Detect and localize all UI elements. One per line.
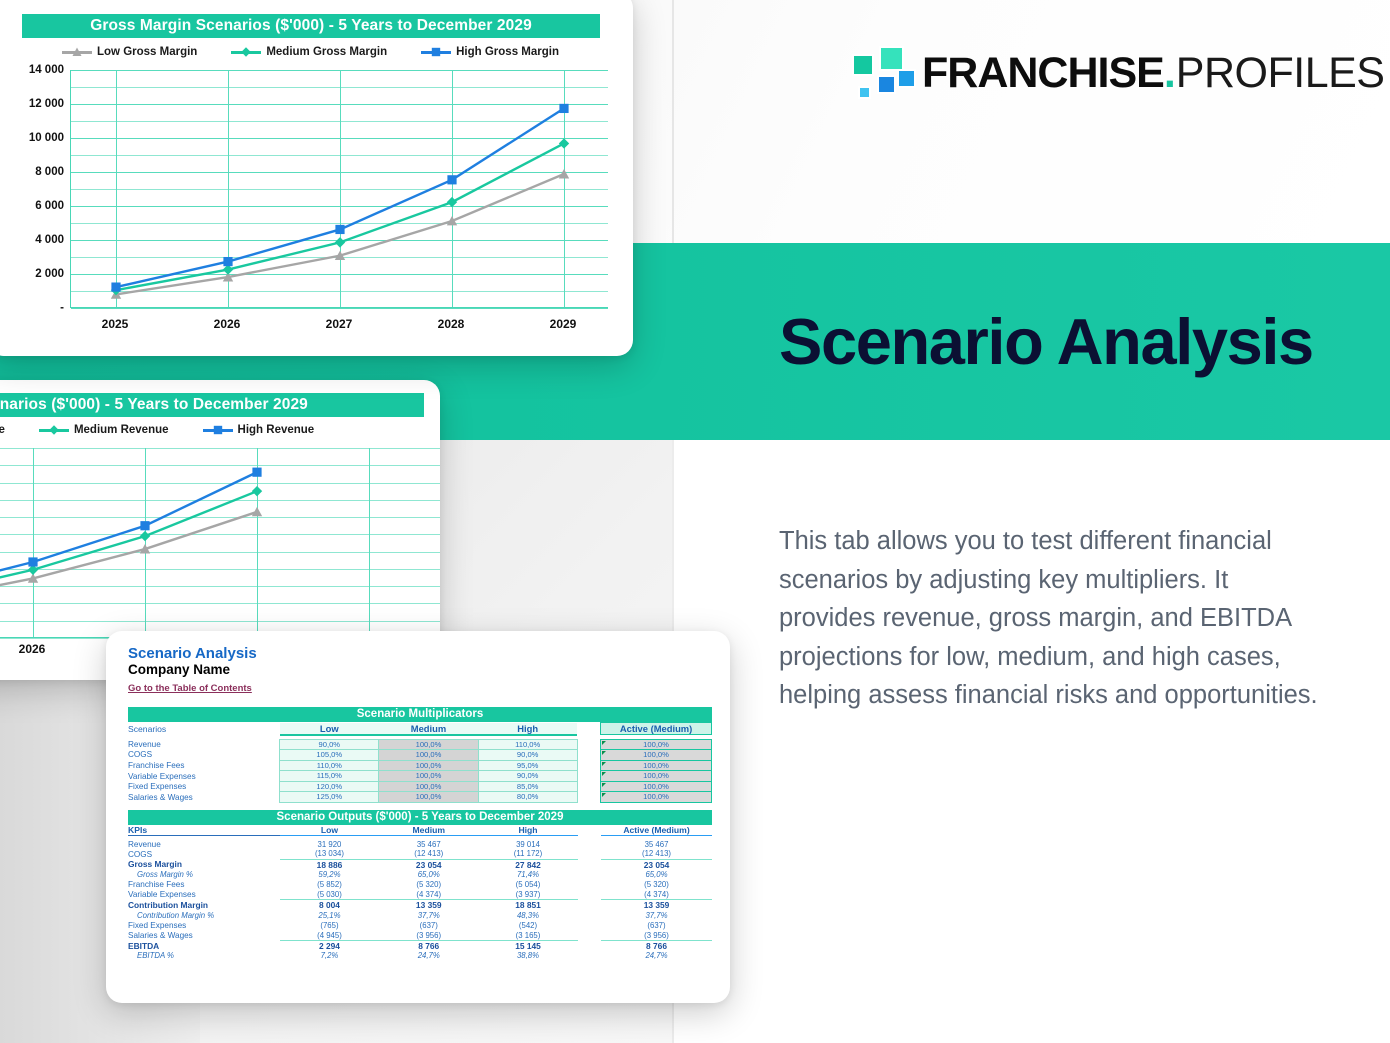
- cell-low[interactable]: (13 034): [280, 849, 379, 859]
- gross-margin-chart-plot: [70, 70, 608, 308]
- cell-active[interactable]: 8 766: [601, 940, 712, 951]
- outputs-column-header: High: [478, 825, 577, 836]
- cell-low[interactable]: 115,0%: [280, 771, 379, 782]
- spacer-cell: [578, 910, 601, 920]
- cell-active[interactable]: 65,0%: [601, 870, 712, 880]
- cell-medium[interactable]: 100,0%: [379, 760, 478, 771]
- legend-swatch-low: [62, 51, 92, 54]
- outputs-band: Scenario Outputs ($'000) - 5 Years to De…: [128, 810, 712, 825]
- row-label: Contribution Margin %: [128, 910, 280, 920]
- spacer-cell: [578, 890, 601, 900]
- cell-active[interactable]: (5 320): [601, 880, 712, 890]
- cell-active[interactable]: (4 374): [601, 890, 712, 900]
- cell-active[interactable]: 100,0%: [601, 760, 712, 771]
- data-point: [252, 507, 262, 516]
- spacer-cell: [578, 859, 601, 870]
- spacer-cell: [578, 920, 601, 930]
- row-label: Gross Margin: [128, 859, 280, 870]
- series-line-0: [116, 174, 564, 294]
- cell-medium[interactable]: 13 359: [379, 900, 478, 911]
- row-label: EBITDA: [128, 940, 280, 951]
- scenario-outputs-table[interactable]: KPIsLowMediumHighActive (Medium)Revenue3…: [128, 825, 712, 961]
- x-axis-tick-label: 2027: [326, 317, 353, 331]
- revenue-chart-legend: Low Revenue Medium Revenue High Revenue: [0, 421, 440, 439]
- cell-medium[interactable]: (3 956): [379, 930, 478, 940]
- y-axis-tick-label: -: [60, 302, 64, 314]
- row-label: Salaries & Wages: [128, 792, 280, 803]
- outputs-active-column-header: Active (Medium): [601, 825, 712, 836]
- cell-high[interactable]: 18 851: [478, 900, 577, 911]
- cell-low[interactable]: 7,2%: [280, 951, 379, 961]
- spacer-cell: [578, 951, 601, 961]
- row-label: Fixed Expenses: [128, 781, 280, 792]
- y-axis-tick-label: 10 000: [29, 132, 64, 144]
- data-point: [252, 468, 261, 477]
- cell-medium[interactable]: 100,0%: [379, 792, 478, 803]
- legend-label-high-gross-margin: High Gross Margin: [456, 46, 559, 58]
- x-axis-tick-label: 2028: [438, 317, 465, 331]
- cell-high[interactable]: (3 165): [478, 930, 577, 940]
- cell-medium[interactable]: 35 467: [379, 839, 478, 849]
- cell-active[interactable]: 100,0%: [601, 792, 712, 803]
- table-row[interactable]: Fixed Expenses120,0%100,0%85,0%100,0%: [128, 781, 712, 792]
- cell-high[interactable]: (542): [478, 920, 577, 930]
- page-title: Scenario Analysis: [779, 303, 1313, 381]
- multiplicators-column-header: High: [478, 723, 577, 735]
- row-label: Contribution Margin: [128, 900, 280, 911]
- cell-medium[interactable]: 100,0%: [379, 781, 478, 792]
- data-point: [559, 104, 568, 113]
- legend-item-high-gross-margin: High Gross Margin: [421, 46, 559, 58]
- table-row[interactable]: Contribution Margin8 00413 35918 85113 3…: [128, 900, 712, 911]
- cell-low[interactable]: (5 852): [280, 880, 379, 890]
- row-label: Variable Expenses: [128, 771, 280, 782]
- sheet-company-name: Company Name: [128, 662, 712, 678]
- cell-medium[interactable]: 8 766: [379, 940, 478, 951]
- cell-medium[interactable]: 100,0%: [379, 750, 478, 761]
- cell-medium[interactable]: (637): [379, 920, 478, 930]
- cell-high[interactable]: 85,0%: [478, 781, 577, 792]
- cell-low[interactable]: 25,1%: [280, 910, 379, 920]
- legend-swatch-high: [203, 429, 233, 432]
- data-point: [559, 138, 569, 148]
- cell-active[interactable]: 100,0%: [601, 750, 712, 761]
- row-label: COGS: [128, 750, 280, 761]
- page-description: This tab allows you to test different fi…: [779, 522, 1331, 715]
- cell-medium[interactable]: 100,0%: [379, 771, 478, 782]
- cell-medium[interactable]: 100,0%: [379, 739, 478, 750]
- spacer-cell: [578, 940, 601, 951]
- cell-active[interactable]: 23 054: [601, 859, 712, 870]
- gross-margin-chart-legend: Low Gross Margin Medium Gross Margin Hig…: [0, 43, 633, 61]
- spacer-cell: [578, 870, 601, 880]
- cell-low[interactable]: 105,0%: [280, 750, 379, 761]
- table-row[interactable]: Revenue31 92035 46739 01435 467: [128, 839, 712, 849]
- row-label: Salaries & Wages: [128, 930, 280, 940]
- multiplicators-active-column-header: Active (Medium): [601, 723, 712, 735]
- cell-medium[interactable]: 23 054: [379, 859, 478, 870]
- series-line-0: [0, 512, 257, 621]
- legend-label-low-gross-margin: Low Gross Margin: [97, 46, 197, 58]
- table-row[interactable]: Revenue90,0%100,0%110,0%100,0%: [128, 739, 712, 750]
- cell-active[interactable]: (12 413): [601, 849, 712, 859]
- data-point: [28, 557, 37, 566]
- cell-low[interactable]: 31 920: [280, 839, 379, 849]
- cell-medium[interactable]: 37,7%: [379, 910, 478, 920]
- legend-swatch-medium: [39, 429, 69, 432]
- cell-low[interactable]: 18 886: [280, 859, 379, 870]
- series-line-1: [116, 143, 564, 290]
- multiplicators-row-header: Scenarios: [128, 723, 280, 735]
- cell-high[interactable]: 90,0%: [478, 771, 577, 782]
- row-label: Variable Expenses: [128, 890, 280, 900]
- table-row[interactable]: Salaries & Wages125,0%100,0%80,0%100,0%: [128, 792, 712, 803]
- logo-text-bold: FRANCHISE: [922, 49, 1164, 98]
- spacer-cell: [578, 880, 601, 890]
- legend-item-low-gross-margin: Low Gross Margin: [62, 46, 197, 58]
- table-row[interactable]: EBITDA %7,2%24,7%38,8%24,7%: [128, 951, 712, 961]
- gross-margin-chart-title: Gross Margin Scenarios ($'000) - 5 Years…: [22, 14, 600, 38]
- legend-item-high-revenue: High Revenue: [203, 424, 315, 436]
- outputs-column-header: Low: [280, 825, 379, 836]
- cell-low[interactable]: (5 030): [280, 890, 379, 900]
- y-axis-tick-label: 2 000: [35, 268, 64, 280]
- series-line-1: [0, 491, 257, 618]
- row-label: Gross Margin %: [128, 870, 280, 880]
- data-point: [140, 521, 149, 530]
- cell-medium[interactable]: 65,0%: [379, 870, 478, 880]
- cell-low[interactable]: 90,0%: [280, 739, 379, 750]
- scenario-analysis-sheet-card: Scenario Analysis Company Name Go to the…: [106, 631, 730, 1003]
- cell-active[interactable]: 24,7%: [601, 951, 712, 961]
- cell-high[interactable]: 39 014: [478, 839, 577, 849]
- spacer-cell: [577, 750, 600, 761]
- logo-text-dot: .: [1164, 49, 1176, 98]
- cell-high[interactable]: 90,0%: [478, 750, 577, 761]
- legend-label-medium-revenue: Medium Revenue: [74, 424, 169, 436]
- series-line-2: [116, 108, 564, 287]
- row-label: Revenue: [128, 839, 280, 849]
- row-label: EBITDA %: [128, 951, 280, 961]
- cell-active[interactable]: 13 359: [601, 900, 712, 911]
- cell-low[interactable]: 110,0%: [280, 760, 379, 771]
- chart-series-layer: [0, 448, 440, 638]
- data-point: [447, 175, 456, 184]
- cell-high[interactable]: 80,0%: [478, 792, 577, 803]
- spacer-cell: [578, 930, 601, 940]
- outputs-header-row: KPIsLowMediumHighActive (Medium): [128, 825, 712, 836]
- table-row[interactable]: Gross Margin18 88623 05427 84223 054: [128, 859, 712, 870]
- spacer-cell: [578, 900, 601, 911]
- cell-active[interactable]: (3 956): [601, 930, 712, 940]
- cell-high[interactable]: 48,3%: [478, 910, 577, 920]
- cell-low[interactable]: (765): [280, 920, 379, 930]
- gridline-horizontal: [71, 308, 608, 309]
- data-point: [140, 531, 150, 541]
- row-label: Fixed Expenses: [128, 920, 280, 930]
- cell-active[interactable]: 100,0%: [601, 781, 712, 792]
- cell-high[interactable]: (3 937): [478, 890, 577, 900]
- spacer-cell: [577, 723, 600, 735]
- cell-medium[interactable]: 24,7%: [379, 951, 478, 961]
- data-point: [447, 197, 457, 207]
- multiplicators-header-row: ScenariosLowMediumHighActive (Medium): [128, 723, 712, 735]
- multiplicators-column-header: Medium: [379, 723, 478, 735]
- logo-mark-icon: [852, 46, 906, 100]
- x-axis-tick-label: 2026: [214, 317, 241, 331]
- cell-active[interactable]: 100,0%: [601, 739, 712, 750]
- outputs-row-header: KPIs: [128, 825, 280, 836]
- spacer-cell: [578, 839, 601, 849]
- legend-swatch-high: [421, 51, 451, 54]
- spacer-cell: [578, 825, 601, 836]
- x-axis-tick-label: 2026: [19, 642, 46, 656]
- cell-high[interactable]: 110,0%: [478, 739, 577, 750]
- data-point: [335, 225, 344, 234]
- table-row[interactable]: COGS(13 034)(12 413)(11 172)(12 413): [128, 849, 712, 859]
- cell-medium[interactable]: (4 374): [379, 890, 478, 900]
- cell-active[interactable]: (637): [601, 920, 712, 930]
- table-row[interactable]: Gross Margin %59,2%65,0%71,4%65,0%: [128, 870, 712, 880]
- y-axis-tick-label: 8 000: [35, 166, 64, 178]
- y-axis-tick-label: 12 000: [29, 98, 64, 110]
- cell-high[interactable]: 38,8%: [478, 951, 577, 961]
- sheet-title: Scenario Analysis: [128, 645, 712, 662]
- cell-low[interactable]: 125,0%: [280, 792, 379, 803]
- spacer-cell: [577, 792, 600, 803]
- revenue-chart-plot: [0, 448, 440, 638]
- gross-margin-chart-yaxis: -2 0004 0006 0008 00010 00012 00014 000: [0, 70, 64, 308]
- data-point: [223, 257, 232, 266]
- chart-series-layer: [71, 70, 609, 308]
- y-axis-tick-label: 4 000: [35, 234, 64, 246]
- cell-medium[interactable]: (5 320): [379, 880, 478, 890]
- background-divider-top: [672, 0, 674, 243]
- y-axis-tick-label: 14 000: [29, 64, 64, 76]
- legend-item-low-revenue: Low Revenue: [0, 424, 5, 436]
- scenario-multiplicators-table[interactable]: ScenariosLowMediumHighActive (Medium)Rev…: [128, 722, 712, 803]
- cell-low[interactable]: 120,0%: [280, 781, 379, 792]
- table-row[interactable]: Variable Expenses(5 030)(4 374)(3 937)(4…: [128, 890, 712, 900]
- table-row[interactable]: Salaries & Wages(4 945)(3 956)(3 165)(3 …: [128, 930, 712, 940]
- cell-low[interactable]: 59,2%: [280, 870, 379, 880]
- legend-label-low-revenue: Low Revenue: [0, 424, 5, 436]
- data-point: [111, 282, 120, 291]
- brand-logo: FRANCHISE . PROFILES: [852, 46, 1384, 100]
- logo-text-light: PROFILES: [1176, 49, 1385, 98]
- table-row[interactable]: Contribution Margin %25,1%37,7%48,3%37,7…: [128, 910, 712, 920]
- spacer-cell: [577, 739, 600, 750]
- revenue-chart-title: Revenue Scenarios ($'000) - 5 Years to D…: [0, 393, 424, 417]
- cell-active[interactable]: 35 467: [601, 839, 712, 849]
- table-row[interactable]: COGS105,0%100,0%90,0%100,0%: [128, 750, 712, 761]
- spacer-cell: [578, 849, 601, 859]
- cell-low[interactable]: (4 945): [280, 930, 379, 940]
- cell-high[interactable]: (5 054): [478, 880, 577, 890]
- y-axis-tick-label: 6 000: [35, 200, 64, 212]
- data-point: [559, 169, 569, 178]
- cell-high[interactable]: 95,0%: [478, 760, 577, 771]
- cell-high[interactable]: 27 842: [478, 859, 577, 870]
- gross-margin-chart-card: Gross Margin Scenarios ($'000) - 5 Years…: [0, 0, 633, 356]
- table-row[interactable]: Franchise Fees(5 852)(5 320)(5 054)(5 32…: [128, 880, 712, 890]
- legend-item-medium-revenue: Medium Revenue: [39, 424, 169, 436]
- row-label: COGS: [128, 849, 280, 859]
- table-row[interactable]: Franchise Fees110,0%100,0%95,0%100,0%: [128, 760, 712, 771]
- cell-high[interactable]: 15 145: [478, 940, 577, 951]
- multiplicators-column-header: Low: [280, 723, 379, 735]
- row-label: Franchise Fees: [128, 760, 280, 771]
- table-row[interactable]: EBITDA2 2948 76615 1458 766: [128, 940, 712, 951]
- spacer-cell: [577, 760, 600, 771]
- spacer-cell: [577, 771, 600, 782]
- multiplicators-band: Scenario Multiplicators: [128, 707, 712, 722]
- cell-high[interactable]: 71,4%: [478, 870, 577, 880]
- legend-swatch-medium: [231, 51, 261, 54]
- row-label: Revenue: [128, 739, 280, 750]
- cell-active[interactable]: 100,0%: [601, 771, 712, 782]
- series-line-2: [0, 472, 257, 615]
- legend-label-medium-gross-margin: Medium Gross Margin: [266, 46, 387, 58]
- data-point: [252, 486, 262, 496]
- x-axis-tick-label: 2025: [102, 317, 129, 331]
- cell-low[interactable]: 8 004: [280, 900, 379, 911]
- data-point: [335, 237, 345, 247]
- row-label: Franchise Fees: [128, 880, 280, 890]
- gross-margin-chart-xaxis: 20252026202720282029: [70, 317, 608, 333]
- table-row[interactable]: Fixed Expenses(765)(637)(542)(637): [128, 920, 712, 930]
- cell-low[interactable]: 2 294: [280, 940, 379, 951]
- cell-active[interactable]: 37,7%: [601, 910, 712, 920]
- table-row[interactable]: Variable Expenses115,0%100,0%90,0%100,0%: [128, 771, 712, 782]
- table-of-contents-link[interactable]: Go to the Table of Contents: [128, 683, 252, 694]
- legend-item-medium-gross-margin: Medium Gross Margin: [231, 46, 387, 58]
- cell-medium[interactable]: (12 413): [379, 849, 478, 859]
- legend-label-high-revenue: High Revenue: [238, 424, 315, 436]
- spacer-cell: [577, 781, 600, 792]
- x-axis-tick-label: 2029: [550, 317, 577, 331]
- cell-high[interactable]: (11 172): [478, 849, 577, 859]
- outputs-column-header: Medium: [379, 825, 478, 836]
